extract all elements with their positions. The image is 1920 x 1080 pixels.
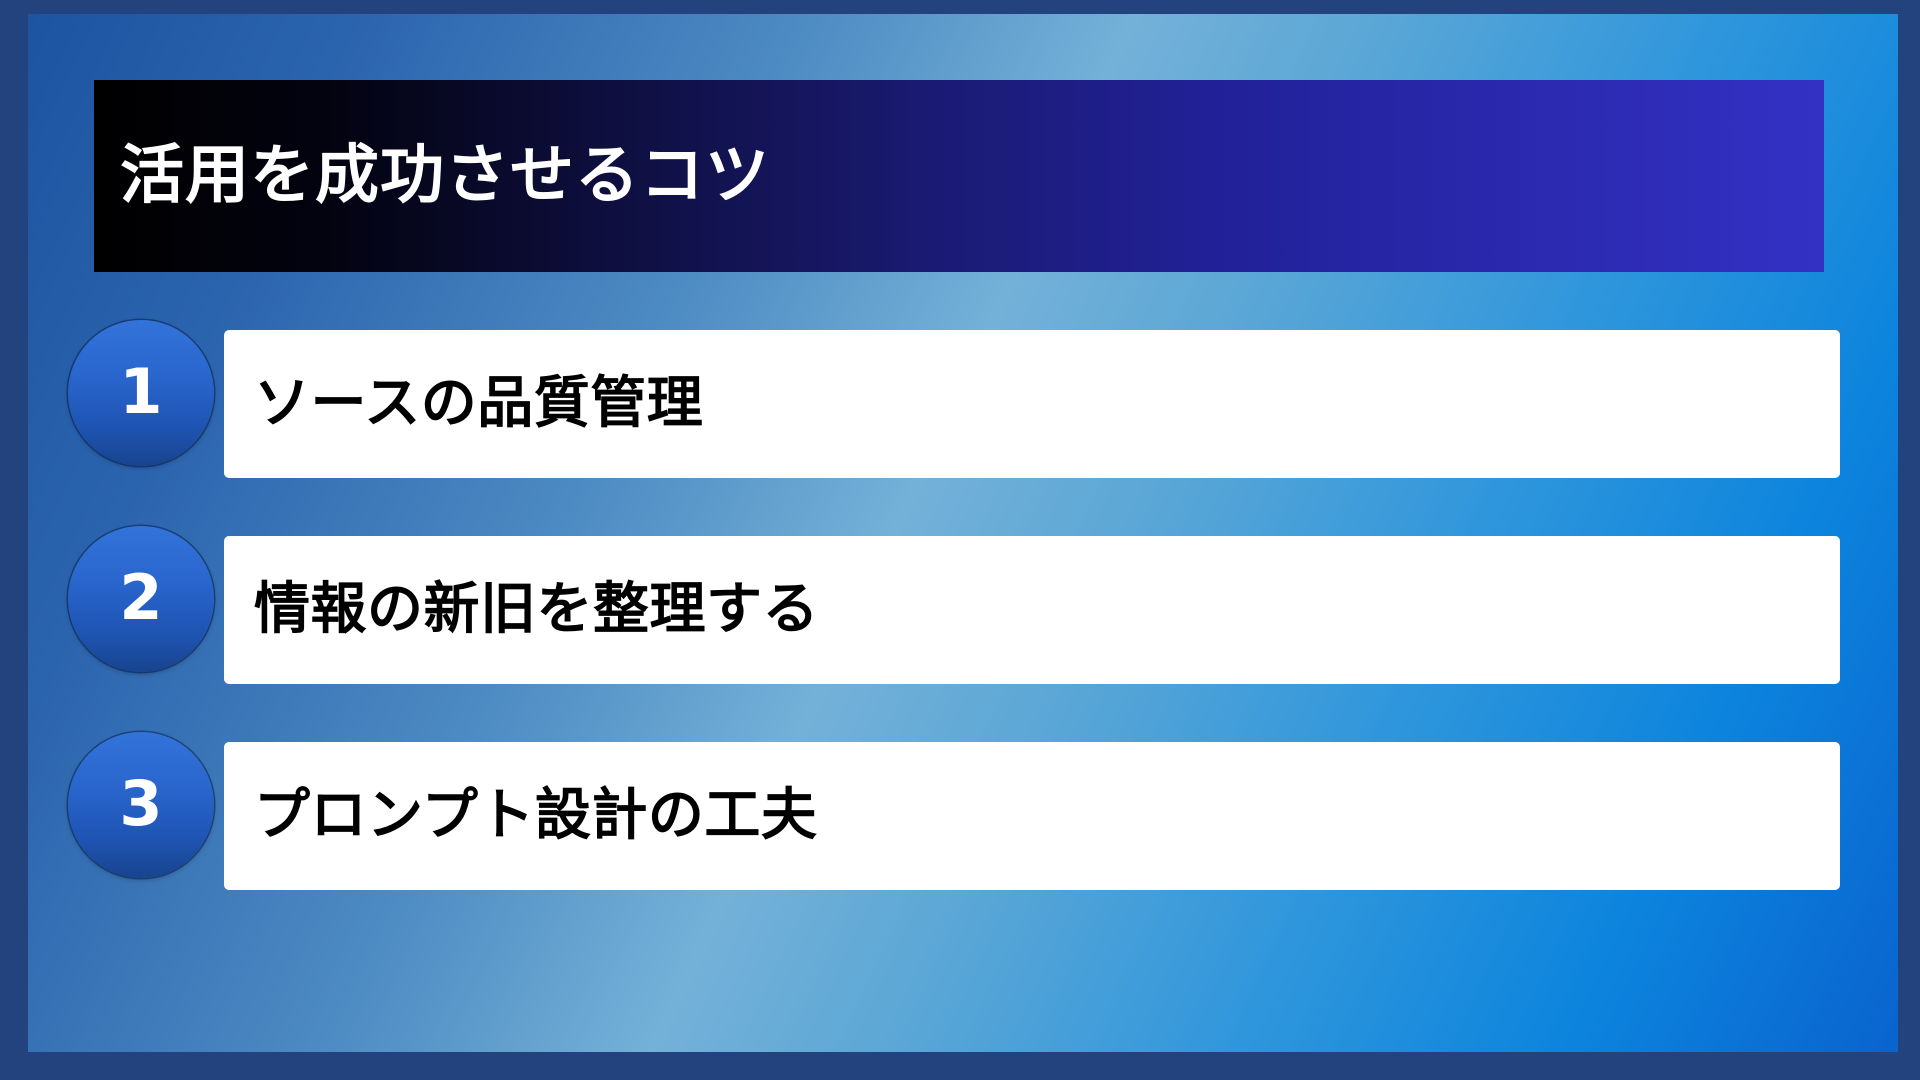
item-number-badge-3: 3 (68, 732, 214, 878)
item-card-1[interactable]: ソースの品質管理 (224, 330, 1840, 478)
item-label-1: ソースの品質管理 (254, 372, 703, 436)
list-item[interactable]: 3 プロンプト設計の工夫 (28, 732, 1898, 882)
item-number-1: 1 (119, 361, 162, 423)
item-label-3: プロンプト設計の工夫 (254, 784, 817, 848)
numbered-list: 1 ソースの品質管理 2 情報の新旧を整理する 3 プロンプ (28, 320, 1898, 882)
list-item[interactable]: 2 情報の新旧を整理する (28, 526, 1898, 676)
slide-frame: 活用を成功させるコツ 1 ソースの品質管理 2 情報の新旧を整理する (0, 0, 1920, 1080)
item-number-2: 2 (119, 567, 162, 629)
item-card-3[interactable]: プロンプト設計の工夫 (224, 742, 1840, 890)
slide-title: 活用を成功させるコツ (120, 141, 770, 211)
slide-background: 活用を成功させるコツ 1 ソースの品質管理 2 情報の新旧を整理する (28, 14, 1898, 1052)
list-item[interactable]: 1 ソースの品質管理 (28, 320, 1898, 470)
item-number-badge-1: 1 (68, 320, 214, 466)
item-label-2: 情報の新旧を整理する (254, 578, 819, 642)
slide-title-bar: 活用を成功させるコツ (94, 80, 1824, 272)
item-number-badge-2: 2 (68, 526, 214, 672)
item-card-2[interactable]: 情報の新旧を整理する (224, 536, 1840, 684)
item-number-3: 3 (119, 773, 162, 835)
